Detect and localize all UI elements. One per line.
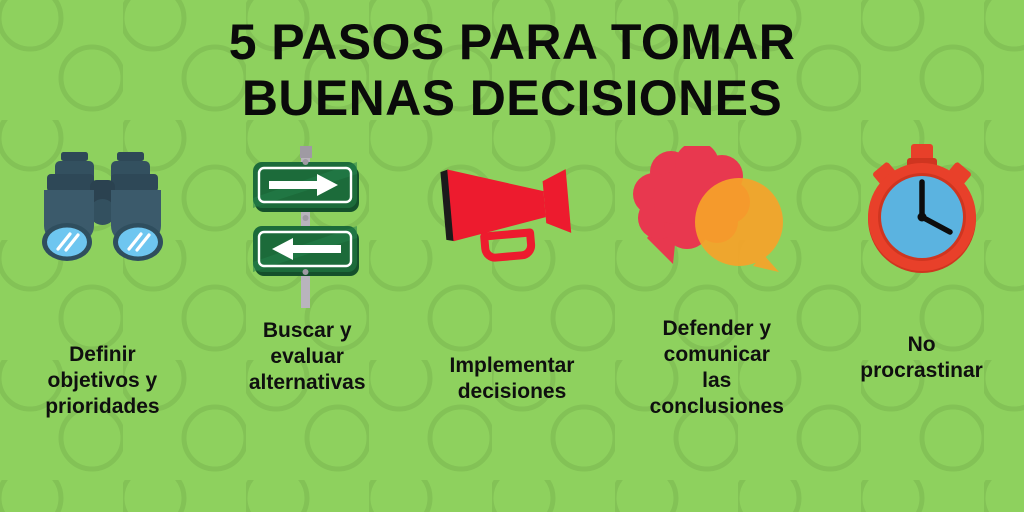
step-item-3: Implementar decisiones [410,150,615,490]
step-1-icon-wrap [0,150,205,320]
step-5-icon-wrap [819,140,1024,310]
title-line-1: 5 PASOS PARA TOMAR [0,14,1024,70]
step-item-5: No procrastinar [819,150,1024,490]
road-signs-icon [242,138,372,318]
steps-row: Definir objetivos y prioridades [0,150,1024,490]
step-5-label: No procrastinar [827,332,1017,384]
speech-bubbles-icon [629,146,804,296]
infographic-canvas: 5 PASOS PARA TOMAR BUENAS DECISIONES [0,0,1024,512]
step-2-label: Buscar y evaluar alternativas [212,318,402,396]
megaphone-icon [427,150,597,280]
stopwatch-icon [852,140,992,280]
step-item-2: Buscar y evaluar alternativas [205,150,410,490]
step-2-icon-wrap [205,138,410,308]
step-3-label: Implementar decisiones [417,353,607,405]
step-4-icon-wrap [614,146,819,316]
step-3-icon-wrap [410,150,615,320]
binoculars-icon [20,150,185,270]
page-title: 5 PASOS PARA TOMAR BUENAS DECISIONES [0,14,1024,126]
title-line-2: BUENAS DECISIONES [0,70,1024,126]
step-4-label: Defender y comunicar las conclusiones [622,316,812,420]
step-item-1: Definir objetivos y prioridades [0,150,205,490]
step-item-4: Defender y comunicar las conclusiones [614,150,819,490]
step-1-label: Definir objetivos y prioridades [7,342,197,420]
